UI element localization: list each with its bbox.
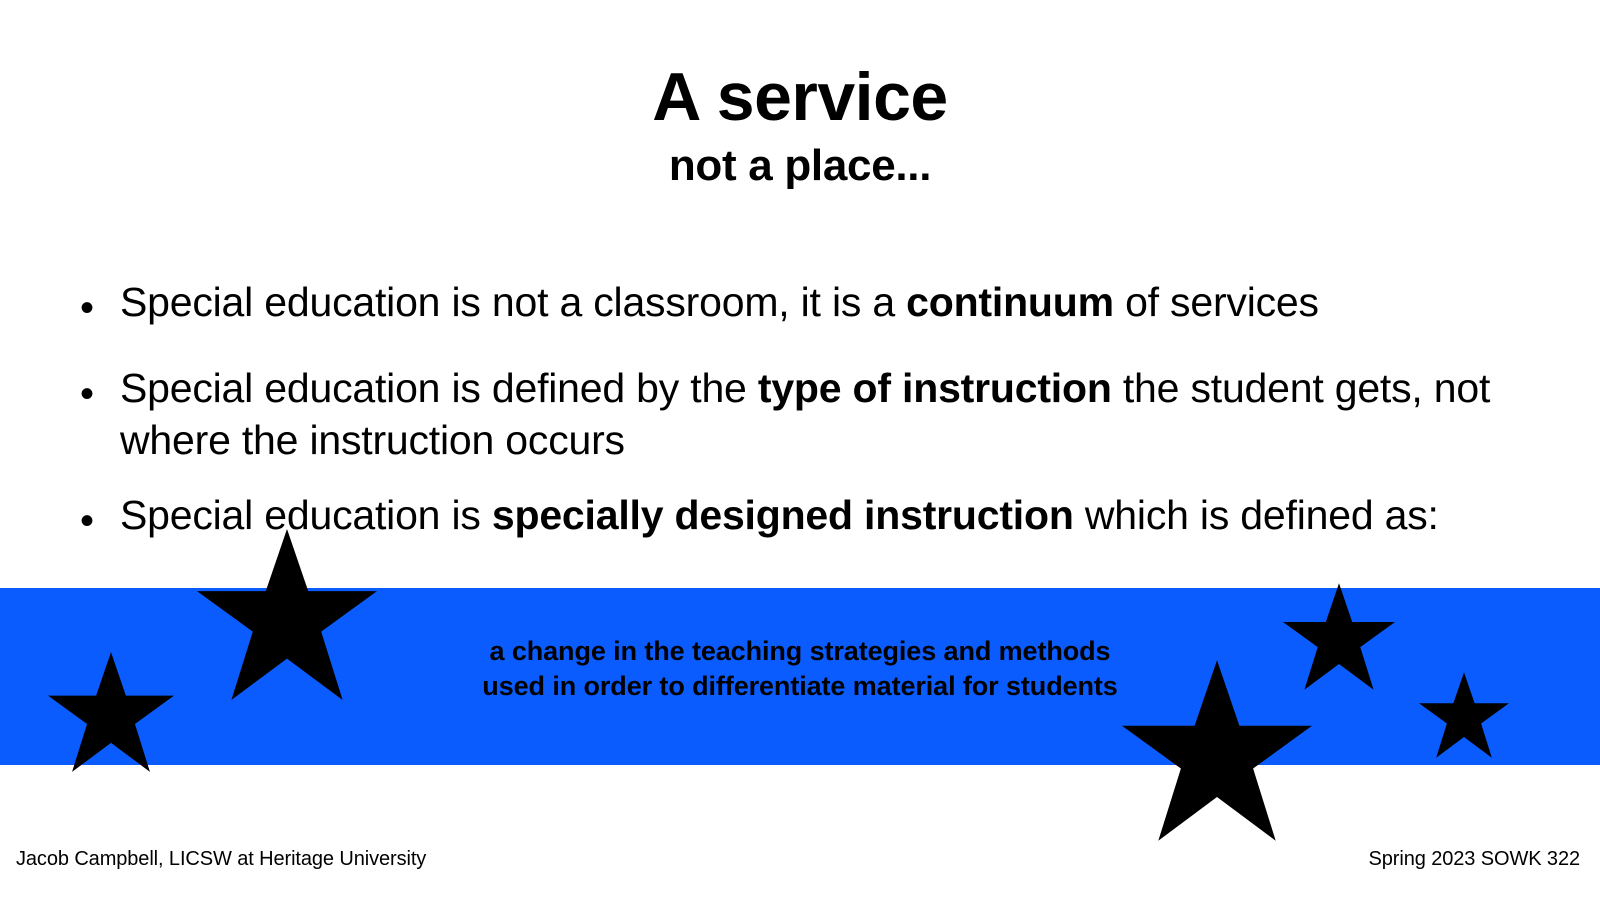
star-icon [197,529,377,700]
bullet-text: Special education is defined by the type… [120,362,1530,467]
bullet-segment-bold: continuum [906,279,1114,325]
title-block: A service not a place... [0,62,1600,191]
list-item: • Special education is not a classroom, … [80,276,1530,340]
bullet-segment-bold: type of instruction [758,365,1112,411]
star-icon [1419,672,1509,758]
slide-title: A service [0,62,1600,133]
bullet-segment: Special education is not a classroom, it… [120,279,906,325]
bullet-marker-icon: • [80,276,120,340]
footer-author: Jacob Campbell, LICSW at Heritage Univer… [16,848,426,871]
slide-subtitle: not a place... [0,141,1600,190]
list-item: • Special education is defined by the ty… [80,362,1530,467]
star-icon [48,652,174,772]
bullet-segment: which is defined as: [1074,492,1439,538]
footer-course: Spring 2023 SOWK 322 [1369,848,1580,871]
bullet-text: Special education is not a classroom, it… [120,276,1530,328]
bullet-marker-icon: • [80,489,120,553]
bullet-segment: of services [1114,279,1319,325]
slide-canvas: A service not a place... • Special educa… [0,0,1600,900]
bullet-marker-icon: • [80,362,120,426]
star-icon [1122,660,1312,841]
bullet-segment-bold: specially designed instruction [492,492,1074,538]
bullet-segment: Special education is defined by the [120,365,758,411]
